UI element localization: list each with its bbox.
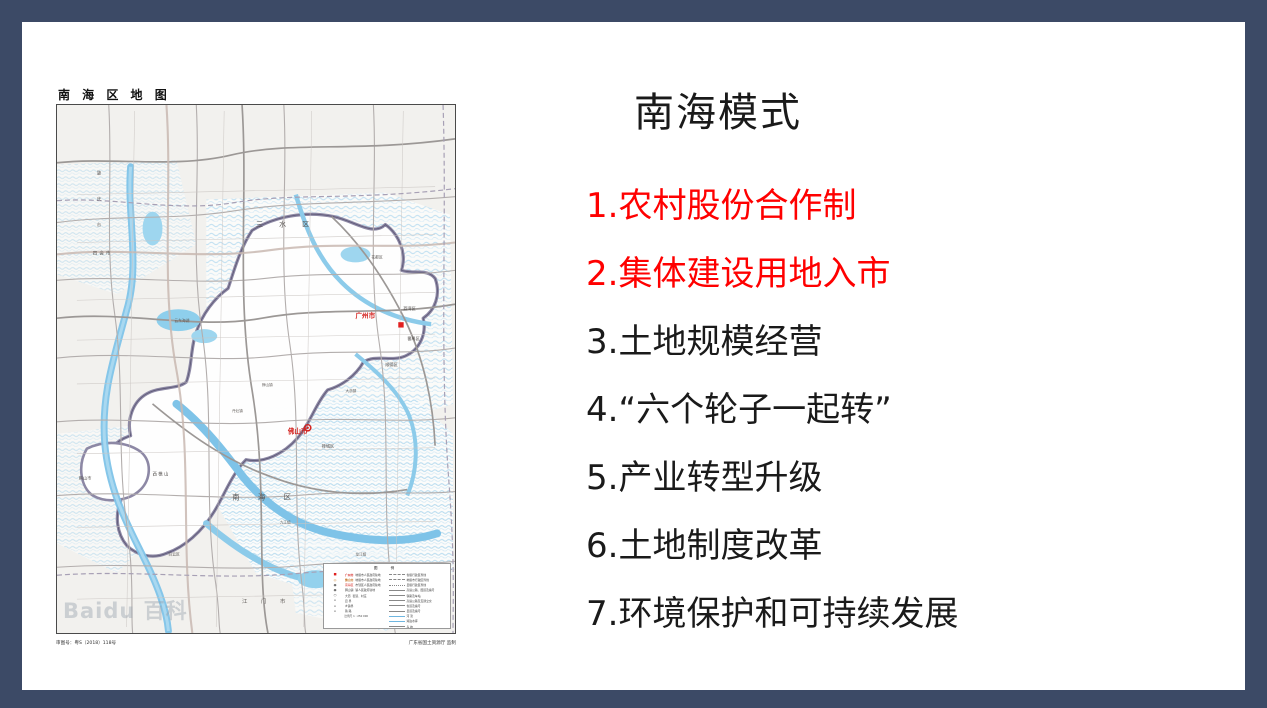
map-panel: 南 海 区 地 图 (56, 62, 476, 652)
slide-canvas: 南 海 区 地 图 (22, 22, 1245, 690)
list-item-number: 6. (586, 526, 618, 566)
content-panel: 南海模式 1.农村股份合作制 2.集体建设用地入市 3.土地规模经营 4.“六个… (562, 62, 1222, 662)
township-boundary-icon: ▫ (327, 604, 343, 609)
map-frame[interactable]: 三 水 区 南 海 区 广州市 佛山市 番禺区 荔湾区 禅城区 顺德区 四会市 … (56, 104, 456, 634)
page-title: 南海模式 (634, 80, 802, 138)
svg-text:丹灶镇: 丹灶镇 (232, 408, 243, 413)
legend-header: 图 例 (327, 566, 447, 571)
svg-text:番禺区: 番禺区 (407, 335, 420, 341)
village-marker-icon: ○ (327, 593, 343, 598)
legend-label: 铁 路 (345, 609, 351, 613)
legend-scale: 比例尺 1 : 250 000 (327, 615, 386, 619)
railway-icon: ▫ (327, 609, 343, 614)
svg-text:三 水 区: 三 水 区 (256, 220, 316, 229)
svg-text:白云区: 白云区 (168, 551, 180, 556)
legend-column-left: ■ 广州市 地级市人民政府驻地 ◎ 佛山市 地级市人民政府驻地 ◉ (327, 572, 386, 629)
legend-label: 河 流 (407, 614, 413, 618)
legend-label: 狮山镇 (345, 588, 353, 592)
city-marker-icon: ■ (327, 572, 343, 577)
legend-label: 湖泊水库 (407, 619, 418, 623)
svg-text:狮山镇: 狮山镇 (262, 382, 273, 387)
legend-note: 市辖区人民政府驻地 (355, 583, 380, 587)
legend-label: 地级市行政区界线 (407, 578, 429, 582)
point-list: 1.农村股份合作制 2.集体建设用地入市 3.土地规模经营 4.“六个轮子一起转… (586, 172, 1216, 648)
list-item-number: 2. (586, 254, 618, 294)
list-item: 2.集体建设用地入市 (586, 240, 1216, 308)
list-item: 5.产业转型升级 (586, 444, 1216, 512)
svg-text:云东海湖: 云东海湖 (174, 318, 189, 323)
svg-text:鹤山市: 鹤山市 (79, 475, 92, 481)
line-symbol-icon (389, 585, 405, 586)
legend-note: 地级市人民政府驻地 (355, 573, 380, 577)
svg-text:佛山市: 佛山市 (287, 427, 308, 436)
svg-text:顺德区: 顺德区 (385, 361, 398, 367)
map-graphic: 三 水 区 南 海 区 广州市 佛山市 番禺区 荔湾区 禅城区 顺德区 四会市 … (57, 105, 455, 633)
svg-text:花都区: 花都区 (371, 254, 383, 259)
legend-label: 县 界 (345, 599, 351, 603)
svg-text:荔湾区: 荔湾区 (403, 305, 416, 311)
svg-text:禅城区: 禅城区 (322, 443, 335, 449)
svg-text:庆: 庆 (97, 196, 102, 203)
river-symbol-icon (389, 616, 405, 617)
list-item-label: 环境保护和可持续发展 (618, 594, 958, 634)
legend-label: 广州市 (345, 573, 353, 577)
line-symbol-icon (389, 595, 405, 596)
list-item-number: 1. (586, 186, 618, 226)
legend-label: 大沥 (345, 594, 351, 598)
legend-item: ▫ 铁 路 (327, 609, 386, 614)
island-symbol-icon (389, 626, 405, 627)
svg-text:江 门 市: 江 门 市 (242, 597, 291, 605)
list-item-number: 4. (586, 390, 618, 430)
list-item: 3.土地规模经营 (586, 308, 1216, 376)
svg-text:广州市: 广州市 (356, 311, 376, 320)
legend-label: 南海区 (345, 583, 353, 587)
legend-label: 高速公路及互通立交 (407, 599, 432, 603)
legend-item: ◎ 佛山市 地级市人民政府驻地 (327, 577, 386, 582)
list-item: 7.环境保护和可持续发展 (586, 580, 1216, 648)
legend-label: 高速公路、国道及编号 (407, 588, 435, 592)
legend-label: 乡镇界 (345, 604, 353, 608)
map-publisher: 广东省国土资源厅 监制 (409, 640, 456, 646)
legend-label: 县级行政区界线 (407, 583, 427, 587)
svg-text:龙江镇: 龙江镇 (356, 551, 367, 556)
list-item: 1.农村股份合作制 (586, 172, 1216, 240)
legend-label: 岛 屿 (407, 625, 413, 629)
legend-label: 省级行政区界线 (407, 573, 427, 577)
svg-text:四会市: 四会市 (93, 249, 113, 256)
legend-item: ■ 广州市 地级市人民政府驻地 (327, 572, 386, 577)
list-item-number: 3. (586, 322, 618, 362)
legend-column-right: 省级行政区界线 地级市行政区界线 县级行政区界线 (389, 572, 448, 629)
svg-text:南 海 区: 南 海 区 (232, 492, 299, 502)
legend-label: 县道及编号 (407, 609, 421, 613)
legend-label: 佛山市 (345, 578, 353, 582)
svg-text:九江镇: 九江镇 (280, 519, 291, 524)
legend-note: 镇人民政府驻地 (355, 588, 375, 592)
list-item-label: 土地制度改革 (618, 526, 822, 566)
legend-label: 省道及编号 (407, 604, 421, 608)
list-item-label: 土地规模经营 (618, 322, 822, 362)
legend-note: 街道、村庄 (353, 594, 367, 598)
slide-frame: 南 海 区 地 图 (0, 0, 1267, 708)
legend-item: 岛 屿 (389, 624, 448, 629)
svg-text:大沥镇: 大沥镇 (346, 388, 357, 393)
list-item-label: 产业转型升级 (618, 458, 822, 498)
line-symbol-icon (389, 574, 405, 575)
svg-text:市: 市 (97, 222, 102, 229)
boundary-icon: ▫ (327, 598, 343, 603)
line-symbol-icon (389, 590, 405, 591)
district-marker-icon: ◉ (327, 583, 343, 588)
map-legend: 图 例 ■ 广州市 地级市人民政府驻地 ◎ 佛山市 地级市人民政府驻地 (323, 563, 451, 629)
svg-text:肇: 肇 (97, 170, 102, 177)
svg-text:西 樵 山: 西 樵 山 (153, 471, 169, 478)
town-marker-icon: ◉ (327, 588, 343, 593)
line-symbol-icon (389, 579, 405, 580)
legend-label: 铁路及车站 (407, 594, 421, 598)
list-item: 4.“六个轮子一起转” (586, 376, 1216, 444)
map-approval-number: 审图号：粤S（2018）118号 (56, 640, 116, 646)
city-marker-icon: ◎ (327, 578, 343, 583)
lake-symbol-icon (389, 621, 405, 622)
list-item-label: 农村股份合作制 (618, 186, 856, 226)
list-item-label: “六个轮子一起转” (618, 390, 891, 430)
legend-item: ◉ 南海区 市辖区人民政府驻地 (327, 583, 386, 588)
map-footer: 审图号：粤S（2018）118号 广东省国土资源厅 监制 (56, 640, 456, 646)
line-symbol-icon (389, 600, 405, 601)
legend-note: 地级市人民政府驻地 (355, 578, 380, 582)
list-item-label: 集体建设用地入市 (618, 254, 890, 294)
line-symbol-icon (389, 611, 405, 612)
list-item: 6.土地制度改革 (586, 512, 1216, 580)
line-symbol-icon (389, 605, 405, 606)
map-title: 南 海 区 地 图 (58, 86, 171, 103)
list-item-number: 5. (586, 458, 618, 498)
list-item-number: 7. (586, 594, 618, 634)
